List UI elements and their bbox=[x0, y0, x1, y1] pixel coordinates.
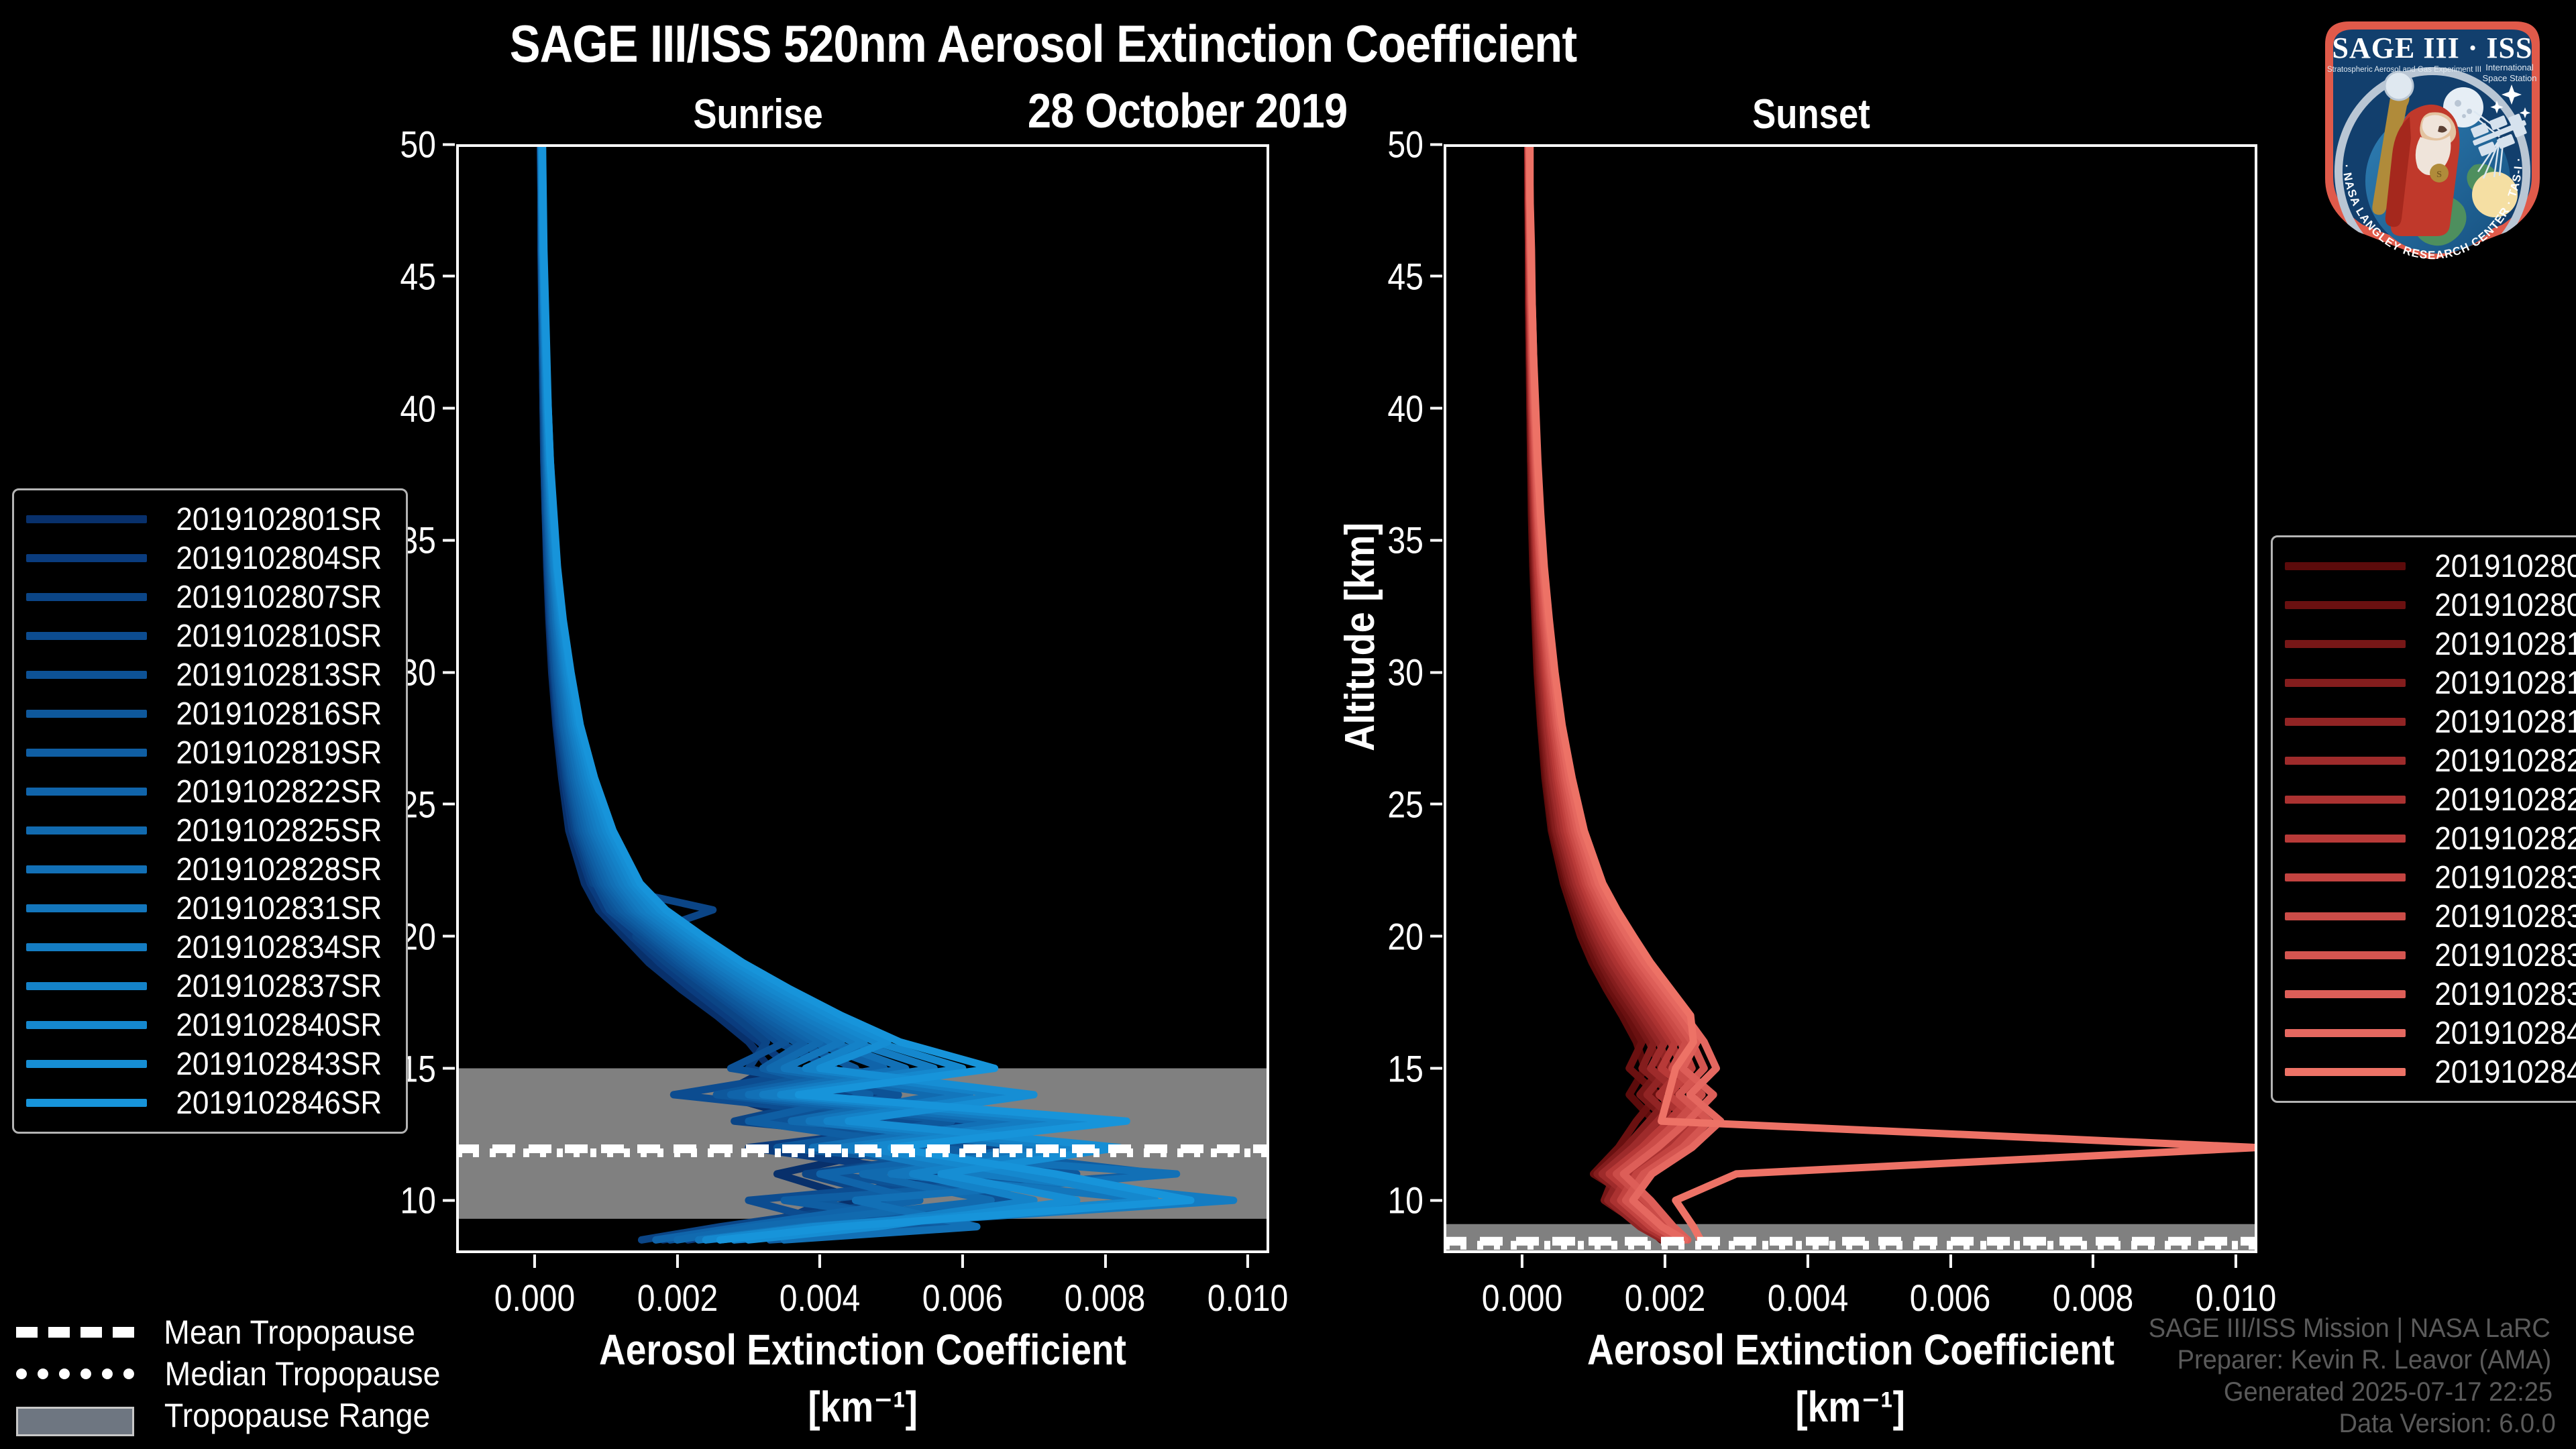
x-tick-0.000: 0.000 bbox=[488, 1276, 582, 1320]
x-tick-0.008: 0.008 bbox=[1058, 1276, 1152, 1320]
legend-color-swatch bbox=[2285, 679, 2406, 687]
logo-subtitle-left: Stratospheric Aerosol and Gas Experiment… bbox=[2327, 66, 2481, 74]
legend-item-label: 2019102828SR bbox=[167, 851, 391, 888]
legend-item-label: 2019102834SR bbox=[167, 929, 391, 966]
legend-item-2019102815SS[interactable]: 2019102815SS bbox=[2285, 663, 2576, 702]
y-tick-25: 25 bbox=[1385, 782, 1426, 826]
legend-item-2019102833SS[interactable]: 2019102833SS bbox=[2285, 897, 2576, 936]
y-tick-35: 35 bbox=[1385, 519, 1426, 562]
page-title: SAGE III/ISS 520nm Aerosol Extinction Co… bbox=[125, 13, 1962, 74]
x-tick-0.002: 0.002 bbox=[1618, 1276, 1712, 1320]
legend-item-2019102824SS[interactable]: 2019102824SS bbox=[2285, 780, 2576, 819]
median-tropopause-key-icon bbox=[16, 1365, 134, 1383]
sunset-x-axis-label-line1: Aerosol Extinction Coefficient bbox=[1444, 1325, 2257, 1375]
svg-text:S: S bbox=[2436, 170, 2442, 180]
legend-color-swatch bbox=[26, 749, 147, 757]
tropopause-legend-label: Median Tropopause bbox=[154, 1354, 451, 1393]
tropopause-legend-item: Tropopause Range bbox=[16, 1395, 451, 1436]
legend-item-label: 2019102807SR bbox=[167, 579, 391, 616]
legend-item-label: 2019102801SR bbox=[167, 501, 391, 538]
logo-subtitle-right-1: International bbox=[2485, 62, 2534, 72]
legend-color-swatch bbox=[26, 1060, 147, 1068]
legend-item-2019102803SS[interactable]: 2019102803SS bbox=[2285, 547, 2576, 586]
sunset-plot-panel: 101520253035404550 0.0000.0020.0040.0060… bbox=[1444, 144, 2257, 1253]
legend-item-label: 2019102819SR bbox=[167, 735, 391, 771]
legend-item-label: 2019102818SS bbox=[2426, 704, 2576, 741]
y-tick-15: 15 bbox=[1385, 1046, 1426, 1090]
legend-item-label: 2019102824SS bbox=[2426, 782, 2576, 818]
legend-color-swatch bbox=[26, 982, 147, 990]
x-tick-0.000: 0.000 bbox=[1475, 1276, 1569, 1320]
x-tick-0.006: 0.006 bbox=[916, 1276, 1010, 1320]
logo-svg: S SAGE III · ISS Stratospheric Aerosol a… bbox=[2298, 5, 2567, 268]
legend-item-2019102821SS[interactable]: 2019102821SS bbox=[2285, 741, 2576, 780]
y-tick-40: 40 bbox=[1385, 386, 1426, 430]
legend-item-2019102825SR[interactable]: 2019102825SR bbox=[26, 811, 391, 850]
legend-color-swatch bbox=[2285, 951, 2406, 959]
legend-color-swatch bbox=[26, 515, 147, 523]
sunrise-x-axis-label-line1: Aerosol Extinction Coefficient bbox=[456, 1325, 1269, 1375]
sunrise-series-legend[interactable]: 2019102801SR2019102804SR2019102807SR2019… bbox=[12, 488, 408, 1134]
legend-item-2019102827SS[interactable]: 2019102827SS bbox=[2285, 819, 2576, 858]
legend-color-swatch bbox=[26, 710, 147, 718]
legend-item-2019102840SR[interactable]: 2019102840SR bbox=[26, 1006, 391, 1044]
legend-item-label: 2019102816SR bbox=[167, 696, 391, 733]
legend-item-2019102843SR[interactable]: 2019102843SR bbox=[26, 1044, 391, 1083]
legend-color-swatch bbox=[26, 788, 147, 796]
y-tick-50: 50 bbox=[1385, 123, 1426, 166]
legend-item-label: 2019102830SS bbox=[2426, 859, 2576, 896]
legend-item-2019102839SS[interactable]: 2019102839SS bbox=[2285, 975, 2576, 1014]
sunrise-x-axis-label-line2: [km⁻¹] bbox=[456, 1382, 1269, 1432]
legend-item-label: 2019102842SS bbox=[2426, 1015, 2576, 1052]
mean-tropopause-key-icon bbox=[16, 1324, 134, 1341]
legend-item-label: 2019102840SR bbox=[167, 1007, 391, 1044]
y-tick-50: 50 bbox=[397, 123, 439, 166]
y-tick-10: 10 bbox=[1385, 1179, 1426, 1222]
legend-color-swatch bbox=[26, 943, 147, 951]
legend-color-swatch bbox=[2285, 990, 2406, 998]
sunset-series-legend[interactable]: 2019102803SS2019102809SS2019102812SS2019… bbox=[2271, 535, 2576, 1103]
legend-color-swatch bbox=[2285, 718, 2406, 726]
sunset-x-axis-label-line2: [km⁻¹] bbox=[1444, 1382, 2257, 1432]
legend-item-2019102834SR[interactable]: 2019102834SR bbox=[26, 928, 391, 967]
credit-line: Preparer: Kevin R. Leavor (AMA) bbox=[2138, 1344, 2561, 1376]
legend-color-swatch bbox=[26, 554, 147, 562]
legend-item-2019102819SR[interactable]: 2019102819SR bbox=[26, 733, 391, 772]
legend-color-swatch bbox=[26, 1099, 147, 1107]
y-tick-40: 40 bbox=[397, 386, 439, 430]
legend-item-2019102816SR[interactable]: 2019102816SR bbox=[26, 694, 391, 733]
sunrise-plot-frame bbox=[456, 144, 1269, 1253]
tropopause-legend-label: Tropopause Range bbox=[154, 1396, 440, 1435]
legend-item-2019102807SR[interactable]: 2019102807SR bbox=[26, 578, 391, 616]
legend-color-swatch bbox=[2285, 1068, 2406, 1076]
legend-item-label: 2019102813SR bbox=[167, 657, 391, 694]
legend-item-label: 2019102843SR bbox=[167, 1046, 391, 1083]
legend-item-label: 2019102837SR bbox=[167, 968, 391, 1005]
tropopause-legend-label: Mean Tropopause bbox=[154, 1313, 425, 1352]
legend-color-swatch bbox=[2285, 873, 2406, 881]
legend-item-2019102837SR[interactable]: 2019102837SR bbox=[26, 967, 391, 1006]
credit-line: Generated 2025-07-17 22:25 bbox=[2138, 1377, 2561, 1408]
x-tick-0.004: 0.004 bbox=[1761, 1276, 1855, 1320]
tropopause-range-key-icon bbox=[16, 1407, 134, 1424]
legend-color-swatch bbox=[2285, 912, 2406, 920]
legend-color-swatch bbox=[2285, 757, 2406, 765]
logo-subtitle-right-2: Space Station bbox=[2483, 73, 2537, 83]
x-tick-0.006: 0.006 bbox=[1903, 1276, 1997, 1320]
legend-item-label: 2019102839SS bbox=[2426, 976, 2576, 1013]
legend-color-swatch bbox=[26, 593, 147, 601]
legend-item-label: 2019102846SR bbox=[167, 1085, 391, 1122]
legend-color-swatch bbox=[26, 865, 147, 873]
legend-item-2019102812SS[interactable]: 2019102812SS bbox=[2285, 625, 2576, 663]
legend-color-swatch bbox=[2285, 1029, 2406, 1037]
legend-item-label: 2019102827SS bbox=[2426, 820, 2576, 857]
legend-color-swatch bbox=[2285, 601, 2406, 609]
legend-item-2019102842SS[interactable]: 2019102842SS bbox=[2285, 1014, 2576, 1053]
legend-item-2019102836SS[interactable]: 2019102836SS bbox=[2285, 936, 2576, 975]
legend-item-label: 2019102845SS bbox=[2426, 1054, 2576, 1091]
tropopause-legend-item: Median Tropopause bbox=[16, 1353, 451, 1395]
legend-item-label: 2019102804SR bbox=[167, 540, 391, 577]
legend-color-swatch bbox=[26, 632, 147, 640]
legend-item-label: 2019102815SS bbox=[2426, 665, 2576, 702]
legend-item-2019102831SR[interactable]: 2019102831SR bbox=[26, 889, 391, 928]
sunrise-panel-header: Sunrise bbox=[616, 91, 901, 138]
legend-item-2019102809SS[interactable]: 2019102809SS bbox=[2285, 586, 2576, 625]
x-tick-0.004: 0.004 bbox=[773, 1276, 867, 1320]
y-tick-10: 10 bbox=[397, 1179, 439, 1222]
legend-item-2019102828SR[interactable]: 2019102828SR bbox=[26, 850, 391, 889]
legend-item-label: 2019102812SS bbox=[2426, 626, 2576, 663]
legend-item-2019102818SS[interactable]: 2019102818SS bbox=[2285, 702, 2576, 741]
legend-item-2019102813SR[interactable]: 2019102813SR bbox=[26, 655, 391, 694]
legend-item-label: 2019102833SS bbox=[2426, 898, 2576, 935]
logo-title: SAGE III · ISS bbox=[2332, 32, 2533, 64]
x-tick-0.008: 0.008 bbox=[2046, 1276, 2140, 1320]
legend-color-swatch bbox=[26, 671, 147, 679]
legend-item-label: 2019102825SR bbox=[167, 812, 391, 849]
legend-item-2019102830SS[interactable]: 2019102830SS bbox=[2285, 858, 2576, 897]
legend-item-label: 2019102831SR bbox=[167, 890, 391, 927]
legend-color-swatch bbox=[2285, 640, 2406, 648]
y-tick-45: 45 bbox=[397, 254, 439, 298]
credit-line: SAGE III/ISS Mission | NASA LaRC bbox=[2138, 1313, 2561, 1344]
y-tick-20: 20 bbox=[1385, 914, 1426, 958]
credit-line: Data Version: 6.0.0 bbox=[2138, 1408, 2561, 1440]
legend-item-2019102810SR[interactable]: 2019102810SR bbox=[26, 616, 391, 655]
sunrise-plot-panel: 101520253035404550 0.0000.0020.0040.0060… bbox=[456, 144, 1269, 1253]
sage-iii-iss-mission-patch-logo: S SAGE III · ISS Stratospheric Aerosol a… bbox=[2298, 5, 2567, 268]
sunset-panel-header: Sunset bbox=[1669, 91, 1954, 138]
legend-item-label: 2019102809SS bbox=[2426, 587, 2576, 624]
legend-item-label: 2019102822SR bbox=[167, 773, 391, 810]
x-tick-0.002: 0.002 bbox=[631, 1276, 724, 1320]
legend-item-2019102845SS[interactable]: 2019102845SS bbox=[2285, 1053, 2576, 1091]
legend-item-label: 2019102836SS bbox=[2426, 937, 2576, 974]
y-tick-45: 45 bbox=[1385, 254, 1426, 298]
sunset-plot-frame bbox=[1444, 144, 2257, 1253]
legend-color-swatch bbox=[2285, 835, 2406, 843]
legend-color-swatch bbox=[2285, 796, 2406, 804]
legend-color-swatch bbox=[2285, 562, 2406, 570]
legend-item-2019102822SR[interactable]: 2019102822SR bbox=[26, 772, 391, 811]
legend-item-2019102801SR[interactable]: 2019102801SR bbox=[26, 500, 391, 539]
legend-item-2019102846SR[interactable]: 2019102846SR bbox=[26, 1083, 391, 1122]
tropopause-legend-item: Mean Tropopause bbox=[16, 1311, 451, 1353]
sunset-y-axis-label: Altitude [km] bbox=[1336, 510, 1384, 764]
legend-color-swatch bbox=[26, 904, 147, 912]
x-tick-0.010: 0.010 bbox=[1201, 1276, 1295, 1320]
legend-color-swatch bbox=[26, 1021, 147, 1029]
credits-block: SAGE III/ISS Mission | NASA LaRCPreparer… bbox=[2138, 1313, 2561, 1440]
legend-item-label: 2019102803SS bbox=[2426, 548, 2576, 585]
legend-item-label: 2019102821SS bbox=[2426, 743, 2576, 780]
tropopause-legend: Mean TropopauseMedian TropopauseTropopau… bbox=[16, 1311, 451, 1436]
legend-item-label: 2019102810SR bbox=[167, 618, 391, 655]
legend-color-swatch bbox=[26, 826, 147, 835]
y-tick-30: 30 bbox=[1385, 651, 1426, 694]
legend-item-2019102804SR[interactable]: 2019102804SR bbox=[26, 539, 391, 578]
